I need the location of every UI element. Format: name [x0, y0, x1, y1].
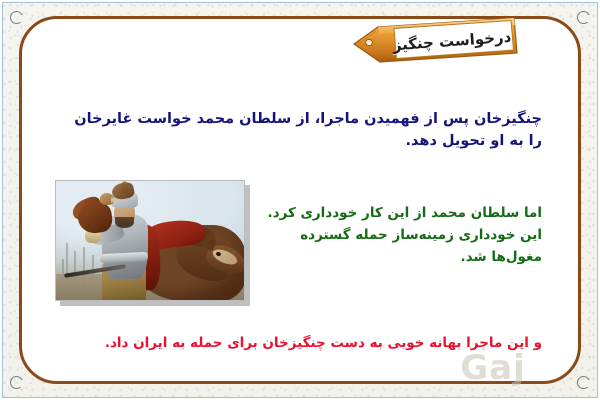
slide-root: درخواست چنگیز چنگیزخان پس از فهمیدن ماجر…: [0, 0, 600, 400]
image-rider-beard: [115, 217, 134, 228]
corner-grommet-icon-top-right: [577, 11, 590, 24]
corner-grommet-icon-top-left: [10, 11, 23, 24]
illustration-frame: [55, 180, 245, 301]
corner-grommet-icon-bottom-right: [577, 376, 590, 389]
paragraph-refusal: اما سلطان محمد از این کار خودداری کرد. ا…: [258, 203, 542, 269]
paragraph-conclusion: و این ماجرا بهانه خوبی به دست چنگیزخان ب…: [58, 333, 542, 354]
corner-grommet-icon-bottom-left: [10, 376, 23, 389]
mongol-warrior-image: [55, 180, 245, 301]
paragraph-intro: چنگیزخان پس از فهمیدن ماجرا، از سلطان مح…: [58, 108, 542, 153]
title-tag-banner: درخواست چنگیز: [352, 17, 518, 65]
